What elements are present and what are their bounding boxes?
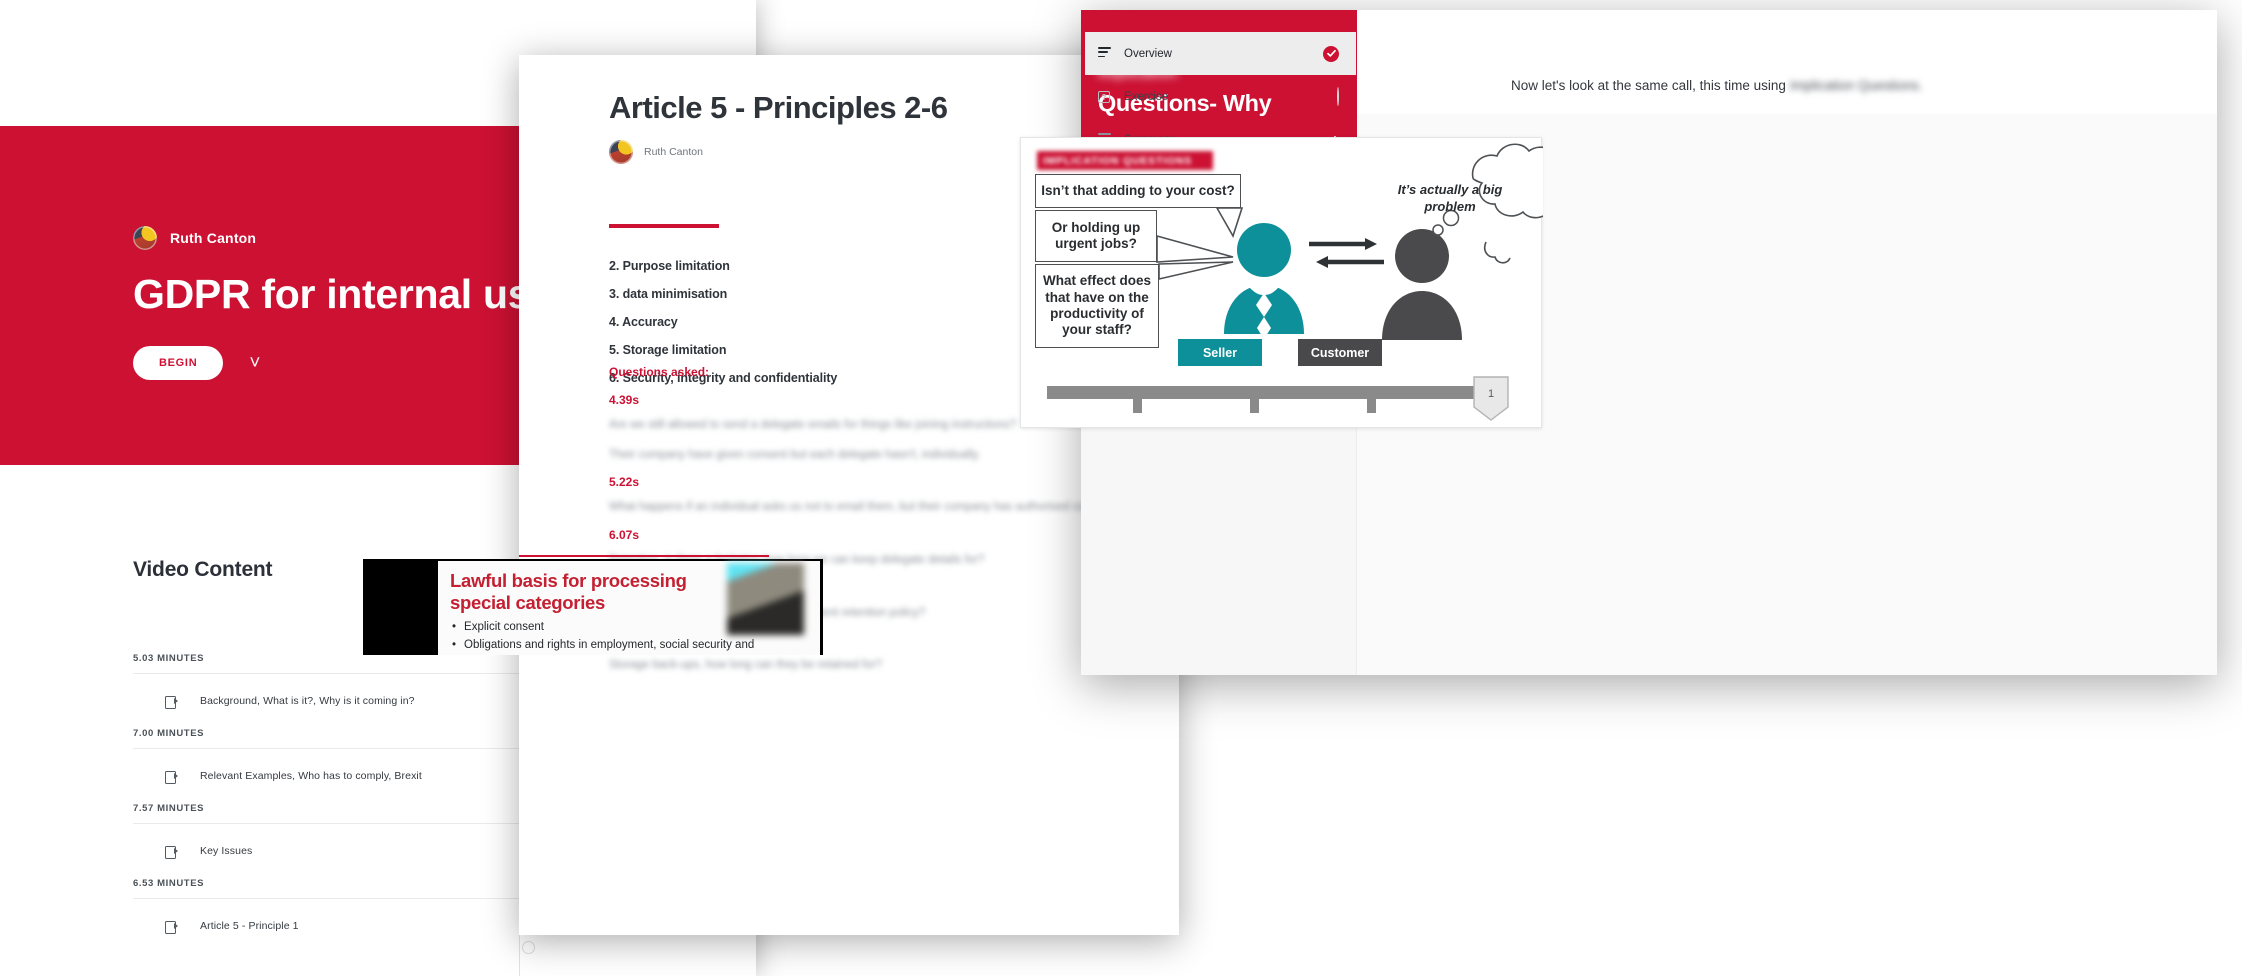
video-icon [165,771,178,782]
empty-circle-icon [1337,88,1339,106]
intro-prefix: Now let's look at the same call, this ti… [1511,78,1790,93]
avatar [609,140,633,164]
timestamp: 5.22s [609,475,1129,489]
video-content-heading: Video Content [133,558,272,582]
video-icon [165,696,178,707]
document-title: Article 5 - Principles 2-6 [609,90,1129,126]
slide-bullet-text: Explicit consent [464,619,544,637]
panel-divider [519,935,520,976]
screenshot-stage: Ruth Canton GDPR for internal use BEGIN … [0,0,2242,976]
sidebar-item-overview[interactable]: Overview [1081,32,1356,75]
lines-icon [1098,47,1116,60]
progress-marker-label: 1 [1484,388,1498,400]
slide-bullet: • Obligations and rights in employment, … [452,637,782,655]
intro-highlight: Implication Questions. [1790,78,1923,93]
bullet-marker: • [452,637,456,655]
list-item-label: Background, What is it?, Why is it comin… [200,695,415,707]
speech-bubble-urgent-jobs: Or holding up urgent jobs? [1035,210,1157,262]
video-icon [165,921,178,932]
list-item-label: Article 5 - Principle 1 [200,920,299,932]
sidebar-item-exercise[interactable]: ? Exercise [1081,75,1356,118]
slide-heading: Lawful basis for processing special cate… [450,570,740,614]
video-icon [165,846,178,857]
accent-divider-bottom [519,555,769,557]
author-name: Ruth Canton [170,230,256,246]
begin-button[interactable]: BEGIN [133,346,223,380]
empty-circle-icon [522,941,535,954]
speech-bubble-cost: Isn’t that adding to your cost? [1035,174,1241,208]
video-slide-strip[interactable]: Lawful basis for processing special cate… [363,559,823,655]
lesson-intro-text: Now let's look at the same call, this ti… [1357,56,2217,114]
check-circle-icon [1323,46,1339,62]
bullet-marker: • [452,619,456,637]
sidebar-item-label: Exercise [1124,91,1168,103]
author-name: Ruth Canton [644,146,703,158]
question-text: Their company have given consent but eac… [609,446,1129,465]
avatar [133,226,157,250]
timestamp: 6.07s [609,528,1129,542]
thought-bubble-text: It’s actually a big problem [1376,160,1524,238]
speech-bubble-productivity: What effect does that have on the produc… [1035,264,1159,348]
implication-questions-diagram: IMPLICATION QUESTIONS [1020,137,1542,428]
list-item-label: Key Issues [200,845,252,857]
list-item-label: Relevant Examples, Who has to comply, Br… [200,770,422,782]
sidebar-item-label: Overview [1124,48,1172,60]
slide-surface: Lawful basis for processing special cate… [438,561,820,655]
slide-bullet-text: Obligations and rights in employment, so… [464,637,754,655]
question-text: What happens if an individual asks us no… [609,498,1129,517]
customer-label: Customer [1298,339,1382,366]
question-text: Storage back-ups, how long can they be r… [609,656,1129,675]
chevron-down-icon[interactable]: ˅ [249,354,260,373]
presenter-webcam-thumbnail [727,563,804,635]
question-entry: 5.22s What happens if an individual asks… [609,475,1129,517]
question-mark-icon: ? [1098,91,1116,103]
seller-label: Seller [1178,339,1262,366]
document-author: Ruth Canton [609,140,703,164]
accent-divider [609,224,719,228]
lesson-topbar [1357,10,2217,56]
